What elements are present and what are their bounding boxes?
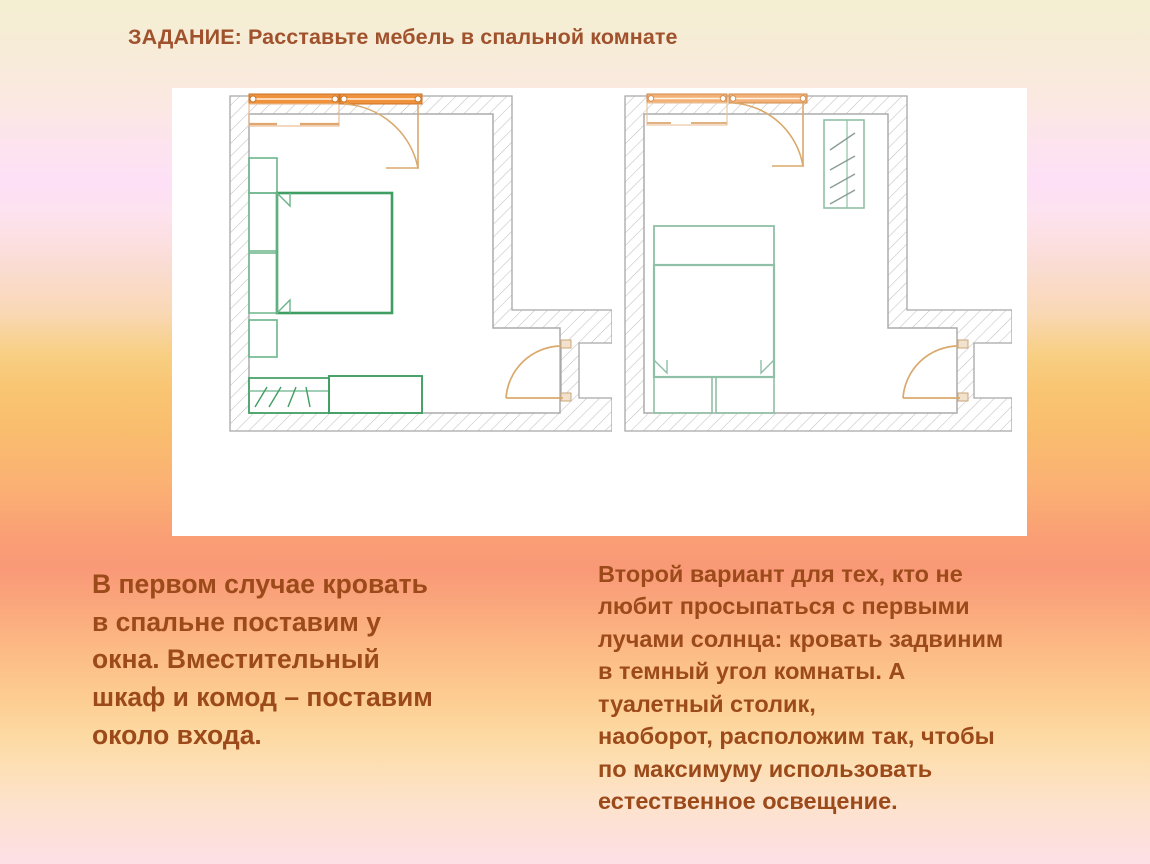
floorplan-variant-1 [222,88,612,448]
caption-line: Второй вариант для тех, кто не [598,558,1113,590]
hanger-marks-icon [255,387,310,407]
caption-line: любит просыпаться с первыми [598,590,1113,622]
bench-right [716,377,774,413]
caption-line: туалетный столик, [598,688,1113,720]
hanger-marks-icon [830,133,855,204]
floorplan-image-panel [172,88,1027,536]
bench-left [654,377,712,413]
caption-line: В первом случае кровать [92,566,562,604]
nightstand-top [249,158,277,193]
bed-double [249,193,392,313]
caption-line: около входа. [92,717,562,755]
slide-root: ЗАДАНИЕ: Расставьте мебель в спальной ко… [0,0,1150,864]
walls [230,96,612,431]
page-title: ЗАДАНИЕ: Расставьте мебель в спальной ко… [128,25,678,50]
caption-line: окна. Вместительный [92,641,562,679]
bed-double [654,226,774,377]
caption-line: в спальне поставим у [92,604,562,642]
caption-line: в темный угол комнаты. А [598,655,1113,687]
caption-line: шкаф и комод – поставим [92,679,562,717]
dresser [329,376,422,413]
nightstand-bottom [249,320,277,357]
caption-line: по максимуму использовать [598,753,1113,785]
wardrobe [824,120,864,208]
caption-line: лучами солнца: кровать задвиним [598,623,1113,655]
caption-variant-1: В первом случае кровать в спальне постав… [92,566,562,754]
caption-variant-2: Второй вариант для тех, кто не любит про… [598,558,1113,817]
floorplan-variant-2 [617,88,1012,448]
walls [625,96,1012,431]
wardrobe [249,378,329,413]
caption-line: естественное освещение. [598,785,1113,817]
caption-line: наоборот, расположим так, чтобы [598,720,1113,752]
